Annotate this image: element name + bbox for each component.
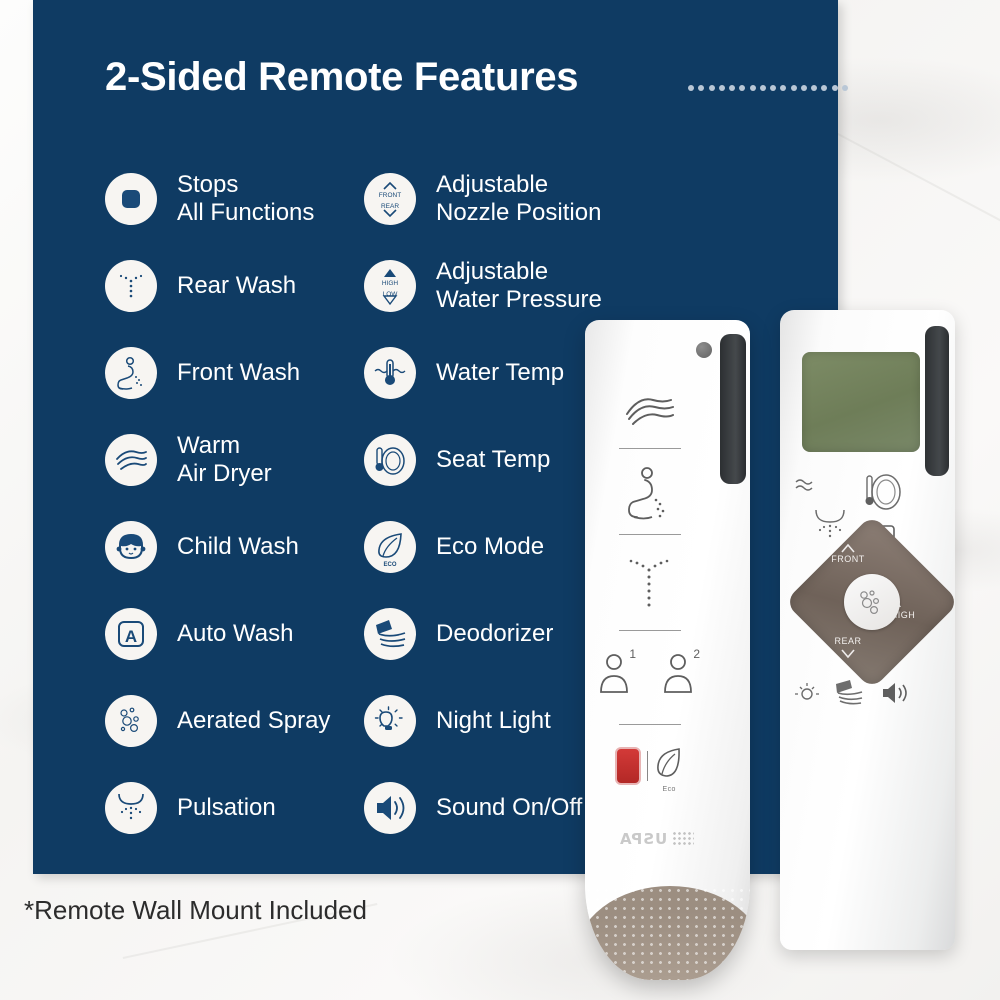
user-2-label: 2 [693, 647, 700, 661]
warm-air-dryer-icon [105, 434, 157, 486]
rear-wash-button[interactable] [585, 556, 713, 612]
front-wash-icon [105, 347, 157, 399]
svg-text:REAR: REAR [381, 203, 399, 210]
sound-on-off-icon[interactable] [880, 680, 908, 706]
feature-row: Front Wash [105, 329, 355, 416]
feature-label: Water Temp [436, 359, 564, 387]
svg-text:HIGH: HIGH [382, 280, 399, 287]
remote-side-strip [720, 334, 746, 484]
title-dotted-rule [688, 84, 848, 92]
water-temp-icon [364, 347, 416, 399]
button-divider [619, 724, 681, 725]
page-title: 2-Sided Remote Features [105, 55, 578, 100]
feature-label: Auto Wash [177, 620, 294, 648]
feature-row: Rear Wash [105, 242, 355, 329]
night-light-icon[interactable] [794, 680, 820, 706]
auto-wash-icon: A [105, 608, 157, 660]
brand-wordmark: USPA [619, 830, 667, 848]
nozzle-position-icon: FRONTREAR [364, 173, 416, 225]
slash-divider [647, 751, 648, 781]
feature-label: Child Wash [177, 533, 299, 561]
feature-label: Pulsation [177, 794, 276, 822]
feature-label: Aerated Spray [177, 707, 330, 735]
feature-label: Sound On/Off [436, 794, 582, 822]
deodorizer-icon [364, 608, 416, 660]
chevron-down-icon [840, 648, 856, 660]
user-1-button[interactable]: 1 [599, 650, 635, 699]
front-wash-button[interactable] [585, 466, 713, 522]
feature-label: Seat Temp [436, 446, 550, 474]
remote-rear-face: A FRONT REAR HIGH [780, 310, 955, 950]
rear-button-face: A FRONT REAR HIGH [792, 468, 942, 768]
feature-row: Aerated Spray [105, 677, 355, 764]
warm-air-dryer-button[interactable] [585, 392, 713, 428]
button-divider [619, 448, 681, 449]
rear-wash-icon [622, 556, 676, 612]
feature-label: WarmAir Dryer [177, 432, 272, 488]
svg-text:A: A [125, 627, 137, 646]
pulsation-icon [105, 782, 157, 834]
feature-row: FRONTREARAdjustableNozzle Position [364, 155, 664, 242]
dryer-waves-icon [621, 392, 677, 428]
feature-row: AAuto Wash [105, 590, 355, 677]
eco-mode-button[interactable]: Eco [654, 746, 684, 785]
feature-label: StopsAll Functions [177, 171, 314, 227]
front-wash-icon [625, 466, 673, 522]
water-pressure-icon: HIGHLOW [364, 260, 416, 312]
feature-label: AdjustableNozzle Position [436, 171, 601, 227]
remote-product-photo: A FRONT REAR HIGH [575, 300, 1000, 1000]
rear-wash-icon [105, 260, 157, 312]
aerated-spray-button[interactable] [844, 574, 900, 630]
feature-label: Deodorizer [436, 620, 553, 648]
feature-row: StopsAll Functions [105, 155, 355, 242]
remote-base-panel [585, 860, 750, 980]
child-wash-icon [105, 521, 157, 573]
feature-row: Pulsation [105, 764, 355, 851]
dpad-front-label: FRONT [823, 554, 873, 564]
brand-dot-pattern [672, 831, 694, 847]
seat-temp-icon[interactable] [860, 468, 904, 516]
user-preset-row: 1 2 [585, 650, 713, 699]
feature-label: Rear Wash [177, 272, 296, 300]
feature-label: Front Wash [177, 359, 300, 387]
water-temp-icon[interactable] [794, 474, 824, 496]
eco-leaf-icon [654, 746, 684, 780]
svg-text:FRONT: FRONT [379, 192, 401, 199]
feature-label: Eco Mode [436, 533, 544, 561]
feature-row: WarmAir Dryer [105, 416, 355, 503]
user-2-button[interactable]: 2 [663, 650, 699, 699]
aerated-spray-icon [855, 587, 889, 617]
chevron-up-icon [840, 542, 856, 554]
stop-button-icon[interactable] [615, 747, 641, 785]
user-1-label: 1 [629, 647, 636, 661]
eco-label: Eco [663, 786, 676, 793]
perforation-pattern [585, 886, 750, 980]
taupe-gradient [585, 886, 750, 980]
sound-on-off-icon [364, 782, 416, 834]
aerated-spray-icon [105, 695, 157, 747]
button-divider [619, 534, 681, 535]
deodorizer-icon[interactable] [832, 678, 866, 708]
feature-row: Child Wash [105, 503, 355, 590]
seat-temp-icon [364, 434, 416, 486]
remote-front-face: 1 2 Eco USPA [585, 320, 750, 980]
footnote: *Remote Wall Mount Included [24, 895, 367, 926]
button-divider [619, 630, 681, 631]
stop-eco-row: Eco [585, 746, 713, 785]
feature-label: Night Light [436, 707, 551, 735]
dpad-rear-label: REAR [823, 636, 873, 646]
stop-square-icon [105, 173, 157, 225]
pulsation-icon[interactable] [810, 508, 850, 544]
remote-side-strip [925, 326, 949, 476]
night-light-icon [364, 695, 416, 747]
ir-sensor-icon [696, 342, 712, 358]
lcd-display [802, 352, 920, 452]
brand-logo: USPA [619, 830, 694, 848]
eco-mode-icon: ECO [364, 521, 416, 573]
feature-column-left: StopsAll FunctionsRear WashFront WashWar… [105, 155, 355, 851]
